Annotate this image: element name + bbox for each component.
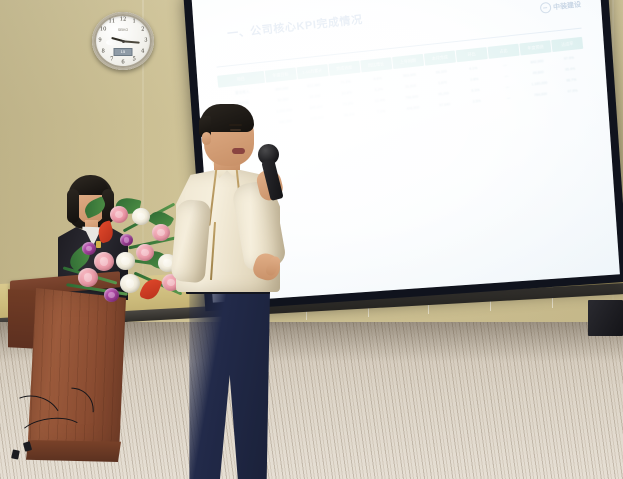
purple-bloom — [104, 288, 119, 302]
kpi-cell: 1,160,000 — [524, 78, 556, 88]
kpi-cell: 49,600 — [523, 67, 555, 77]
kpi-cell: — — [490, 59, 522, 69]
presenter — [172, 104, 304, 479]
kpi-cell: 63.8% — [331, 87, 363, 97]
kpi-cell: 4.1% — [458, 62, 490, 72]
white-rose — [116, 252, 135, 270]
kpi-cell: 33,150 — [300, 90, 332, 100]
kpi-col-header: 年度目标 — [265, 67, 297, 82]
kpi-cell: 7.1% — [366, 105, 398, 115]
kpi-cell: 3,870 — [427, 77, 459, 87]
kpi-cell: 31,510 — [395, 80, 427, 90]
kpi-cell: 营业收入 — [219, 86, 266, 98]
white-rose — [132, 208, 150, 225]
logo-circle-icon — [539, 2, 551, 14]
presenter-trousers — [186, 290, 270, 479]
anthurium-flower — [96, 220, 116, 243]
kpi-cell: 71.2% — [330, 76, 362, 86]
kpi-cell: — — [492, 81, 524, 91]
kpi-cell: 5.2% — [363, 84, 395, 94]
kpi-col-header: 1-10月累计 — [297, 64, 329, 79]
kpi-col-header: 本月完成 — [424, 50, 456, 65]
floor-speaker-box — [588, 300, 623, 336]
slide-title: 一、公司核心KPI完成情况 — [226, 11, 363, 41]
kpi-cell: 68.4% — [334, 109, 366, 119]
clock-numeral-12: 12 — [120, 17, 127, 22]
kpi-cell: — — [493, 92, 525, 102]
presenter-eye — [230, 129, 241, 131]
pink-rose — [136, 244, 154, 261]
wall-clock: SEIKO 12 1 2 3 4 5 6 7 8 9 10 11 15 — [92, 12, 154, 70]
kpi-cell: 764,000 — [525, 88, 557, 98]
kpi-cell: 860,000 — [266, 83, 298, 93]
clock-center-pin — [122, 40, 125, 43]
kpi-col-header: 占比 — [488, 43, 520, 58]
clock-numeral-4: 4 — [141, 49, 144, 54]
purple-bloom — [120, 234, 133, 246]
clock-brand: SEIKO — [118, 28, 128, 32]
pink-rose — [152, 224, 170, 241]
kpi-cell: 533,900 — [302, 112, 334, 122]
kpi-cell: 886,400 — [301, 101, 333, 111]
anthurium-flower — [139, 276, 162, 302]
purple-bloom — [82, 242, 96, 255]
pink-rose — [110, 206, 128, 223]
presenter-mouth — [232, 148, 245, 154]
flower-arrangement — [58, 196, 188, 314]
clock-numeral-1: 1 — [133, 19, 136, 24]
kpi-cell: 52,000 — [268, 94, 300, 104]
clock-numeral-3: 3 — [144, 38, 147, 43]
kpi-cell: 97.9% — [557, 85, 589, 95]
clock-numeral-6: 6 — [121, 60, 124, 65]
clock-numeral-11: 11 — [109, 19, 116, 24]
kpi-cell: 842,000 — [522, 56, 554, 66]
company-logo: 中装建设 — [539, 0, 581, 14]
white-rose — [120, 274, 140, 293]
kpi-col-header: 年度预测 — [520, 40, 552, 55]
kpi-cell: 788,600 — [396, 91, 428, 101]
kpi-cell: 96.7% — [556, 74, 588, 84]
kpi-cell: 6.3% — [460, 84, 492, 94]
pink-rose — [94, 252, 114, 271]
kpi-col-header: 上年同期 — [392, 53, 424, 68]
conference-room-photo: SEIKO 12 1 2 3 4 5 6 7 8 9 10 11 15 一、公司… — [0, 0, 623, 479]
kpi-cell: 498,500 — [397, 102, 429, 112]
kpi-cell: 8.6% — [362, 73, 394, 83]
clock-numeral-2: 2 — [141, 27, 144, 32]
kpi-cell: 95,200 — [428, 88, 460, 98]
kpi-col-header: 同比增长 — [360, 57, 392, 72]
logo-text: 中装建设 — [552, 0, 581, 12]
clock-date-window: 15 — [114, 48, 133, 56]
clock-numeral-10: 10 — [100, 27, 107, 32]
kpi-cell: 73.9% — [333, 98, 365, 108]
presenter-eyebrow — [229, 124, 242, 126]
presenter-ear — [202, 132, 211, 145]
kpi-col-header: 完成进度 — [329, 60, 361, 75]
clock-numeral-5: 5 — [133, 58, 136, 63]
clock-numeral-7: 7 — [110, 58, 113, 63]
clock-numeral-8: 8 — [102, 49, 105, 54]
kpi-col-header: 达成率 — [552, 36, 584, 51]
presenter-left-arm — [170, 199, 211, 284]
kpi-cell: 563,900 — [394, 69, 426, 79]
kpi-cell: 3.5% — [461, 95, 493, 105]
clock-numeral-9: 9 — [98, 38, 101, 43]
kpi-col-header: 环比 — [456, 47, 488, 62]
pink-rose — [78, 268, 98, 287]
kpi-cell: 68,320 — [426, 66, 458, 76]
kpi-cell: 97.9% — [553, 52, 585, 62]
kpi-cell: 2.8% — [459, 73, 491, 83]
kpi-col-header: 项目 — [217, 70, 265, 87]
kpi-cell: 12.4% — [364, 95, 396, 105]
foliage-leaf — [82, 196, 108, 219]
kpi-cell: — — [491, 70, 523, 80]
kpi-cell: 57,640 — [429, 99, 461, 109]
kpi-cell: 612,480 — [298, 79, 330, 89]
kpi-cell: 95.4% — [555, 63, 587, 73]
